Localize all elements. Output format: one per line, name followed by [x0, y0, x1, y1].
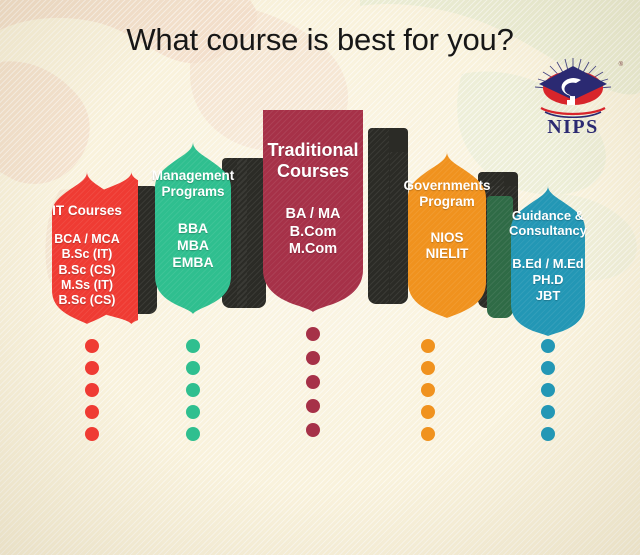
banner-item-list: BBA MBA EMBA — [139, 220, 247, 271]
banner-item: M.Com — [237, 241, 389, 259]
banner-item: EMBA — [139, 254, 247, 271]
connector-dot — [541, 361, 555, 375]
connector-dot — [421, 361, 435, 375]
banner-title: Guidance & Consultancy — [486, 208, 610, 238]
banner-management-programs[interactable]: Management Programs BBA MBA EMBA — [139, 142, 247, 314]
banner-title: IT Courses — [36, 203, 138, 219]
banner-item: B.Sc (CS) — [36, 263, 138, 278]
nips-logo: NIPS ® — [521, 56, 625, 142]
connector-dot — [421, 339, 435, 353]
registered-mark: ® — [619, 62, 623, 68]
connector-dot — [306, 327, 320, 341]
banner-title: Traditional Courses — [237, 140, 389, 182]
banner-item: B.Ed / M.Ed — [486, 256, 610, 272]
logo-mark-icon — [521, 56, 625, 120]
banner-guidance-consultancy[interactable]: Guidance & Consultancy B.Ed / M.Ed PH.D … — [486, 186, 610, 336]
connector-dot — [306, 423, 320, 437]
connector-dot — [85, 383, 99, 397]
banner-item: MBA — [139, 237, 247, 254]
banner-item-list: BA / MA B.Com M.Com — [237, 206, 389, 259]
connector-dot — [186, 405, 200, 419]
banner-item: B.Sc (IT) — [36, 247, 138, 262]
connector-dot — [85, 339, 99, 353]
banner-item-list: B.Ed / M.Ed PH.D JBT — [486, 256, 610, 304]
connector-dot — [541, 339, 555, 353]
banner-title-line: Programs — [139, 184, 247, 200]
banner-item: BCA / MCA — [36, 232, 138, 247]
connector-dot — [541, 405, 555, 419]
banner-item-list: BCA / MCA B.Sc (IT) B.Sc (CS) M.Ss (IT) … — [36, 232, 138, 308]
banner-item: M.Ss (IT) — [36, 278, 138, 293]
banner-item: JBT — [486, 288, 610, 304]
banner-title-line: Management — [139, 168, 247, 184]
banner-title-line: Consultancy — [486, 223, 610, 238]
logo-wordmark: NIPS — [521, 116, 625, 139]
banner-it-courses[interactable]: IT Courses BCA / MCA B.Sc (IT) B.Sc (CS)… — [36, 172, 138, 324]
banner-title-line: Guidance & — [486, 208, 610, 223]
connector-dot — [541, 383, 555, 397]
banner-item: B.Com — [237, 224, 389, 242]
connector-dot — [85, 405, 99, 419]
connector-dot — [186, 383, 200, 397]
banner-item: BA / MA — [237, 206, 389, 224]
connector-dot — [306, 351, 320, 365]
connector-dot — [541, 427, 555, 441]
page-title: What course is best for you? — [0, 22, 640, 58]
connector-dot — [186, 339, 200, 353]
banner-item: B.Sc (CS) — [36, 293, 138, 308]
connector-dot — [85, 361, 99, 375]
banner-item: BBA — [139, 220, 247, 237]
banner-item: PH.D — [486, 272, 610, 288]
connector-dot — [186, 427, 200, 441]
banner-title: Management Programs — [139, 168, 247, 199]
connector-dot — [306, 399, 320, 413]
connector-dot — [421, 383, 435, 397]
banner-traditional-courses[interactable]: Traditional Courses BA / MA B.Com M.Com — [237, 110, 389, 312]
banner-title-line: Traditional — [237, 140, 389, 161]
connector-dot — [421, 427, 435, 441]
connector-dot — [186, 361, 200, 375]
connector-dot — [306, 375, 320, 389]
connector-dot — [85, 427, 99, 441]
banner-title-line: Courses — [237, 161, 389, 182]
infographic-canvas: What course is best for you? — [0, 0, 640, 555]
connector-dot — [421, 405, 435, 419]
